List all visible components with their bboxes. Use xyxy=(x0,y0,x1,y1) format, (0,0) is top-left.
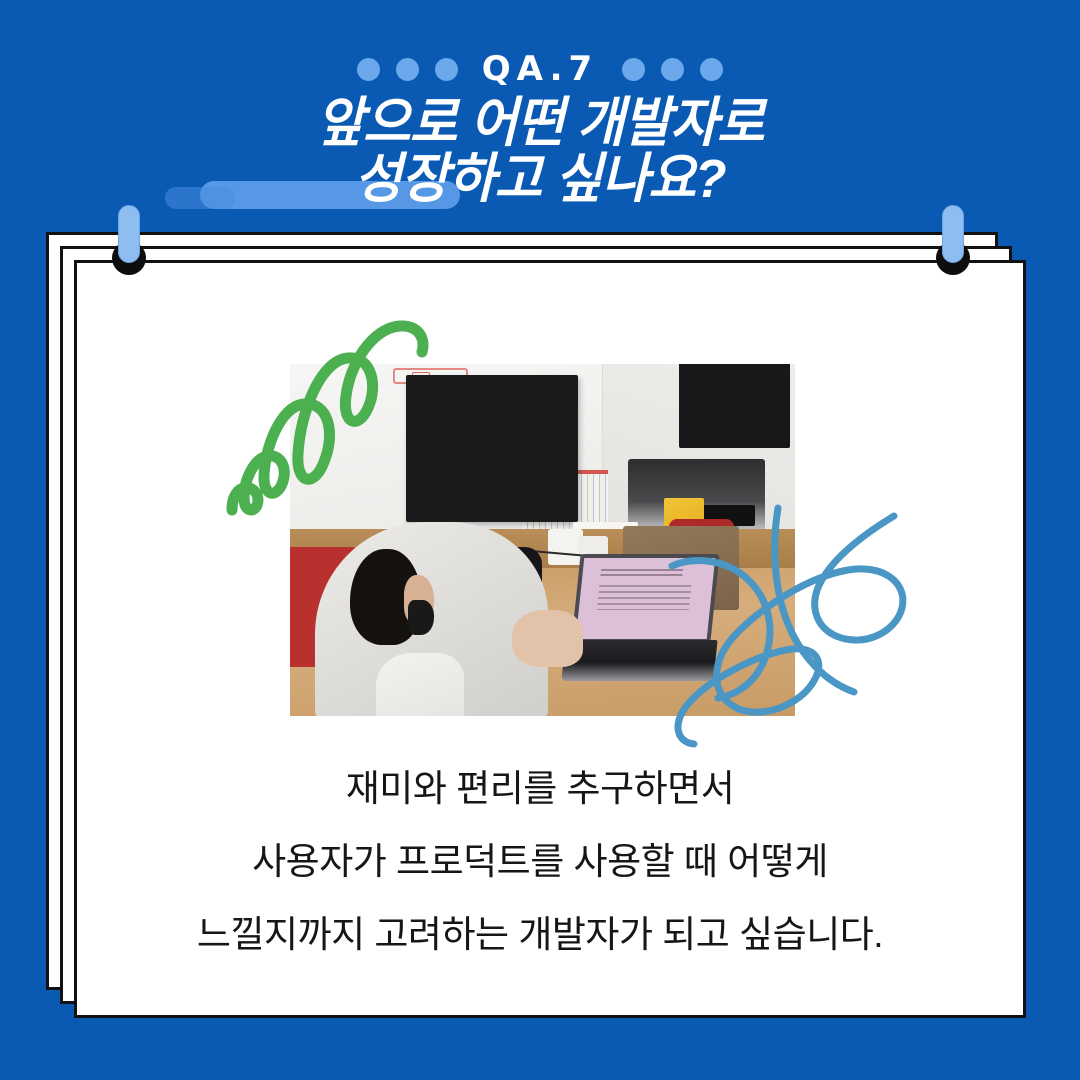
dot-icon xyxy=(357,58,380,81)
pin-left xyxy=(112,205,146,275)
pin-right xyxy=(936,205,970,275)
person-hoodie xyxy=(315,522,547,716)
laptop-screen xyxy=(571,554,720,643)
page-title: 앞으로 어떤 개발자로 성장하고 싶나요? xyxy=(0,96,1080,207)
dot-icon xyxy=(396,58,419,81)
dot-group-left xyxy=(357,58,458,81)
dot-group-right xyxy=(622,58,723,81)
monitor-secondary xyxy=(679,364,790,448)
pin-body-icon xyxy=(118,205,140,263)
face-mask xyxy=(408,600,434,635)
poster-header: QA.7 앞으로 어떤 개발자로 성장하고 싶나요? xyxy=(0,0,1080,230)
person-hands xyxy=(512,610,583,666)
dot-icon xyxy=(435,58,458,81)
answer-caption: 재미와 편리를 추구하면서 사용자가 프로덕트를 사용할 때 어떻게 느낄지까지… xyxy=(90,770,990,953)
title-line-1: 앞으로 어떤 개발자로 xyxy=(22,96,1059,152)
laptop-keyboard xyxy=(561,640,717,681)
person-coat xyxy=(376,653,464,716)
question-number-label: QA.7 xyxy=(476,52,604,86)
pin-body-icon xyxy=(942,205,964,263)
interview-photo xyxy=(290,364,795,716)
macbook-laptop xyxy=(561,554,726,681)
kicker-row: QA.7 xyxy=(0,52,1080,86)
photo-scene xyxy=(290,364,795,716)
dot-icon xyxy=(700,58,723,81)
dot-icon xyxy=(622,58,645,81)
title-line-2: 성장하고 싶나요? xyxy=(22,152,1059,208)
dot-icon xyxy=(661,58,684,81)
caption-line-3: 느낄지까지 고려하는 개발자가 되고 싶습니다. xyxy=(90,916,990,953)
caption-line-1: 재미와 편리를 추구하면서 xyxy=(90,770,990,807)
poster-canvas: QA.7 앞으로 어떤 개발자로 성장하고 싶나요? xyxy=(0,0,1080,1080)
caption-line-2: 사용자가 프로덕트를 사용할 때 어떻게 xyxy=(90,843,990,880)
monitor-main xyxy=(406,375,578,523)
